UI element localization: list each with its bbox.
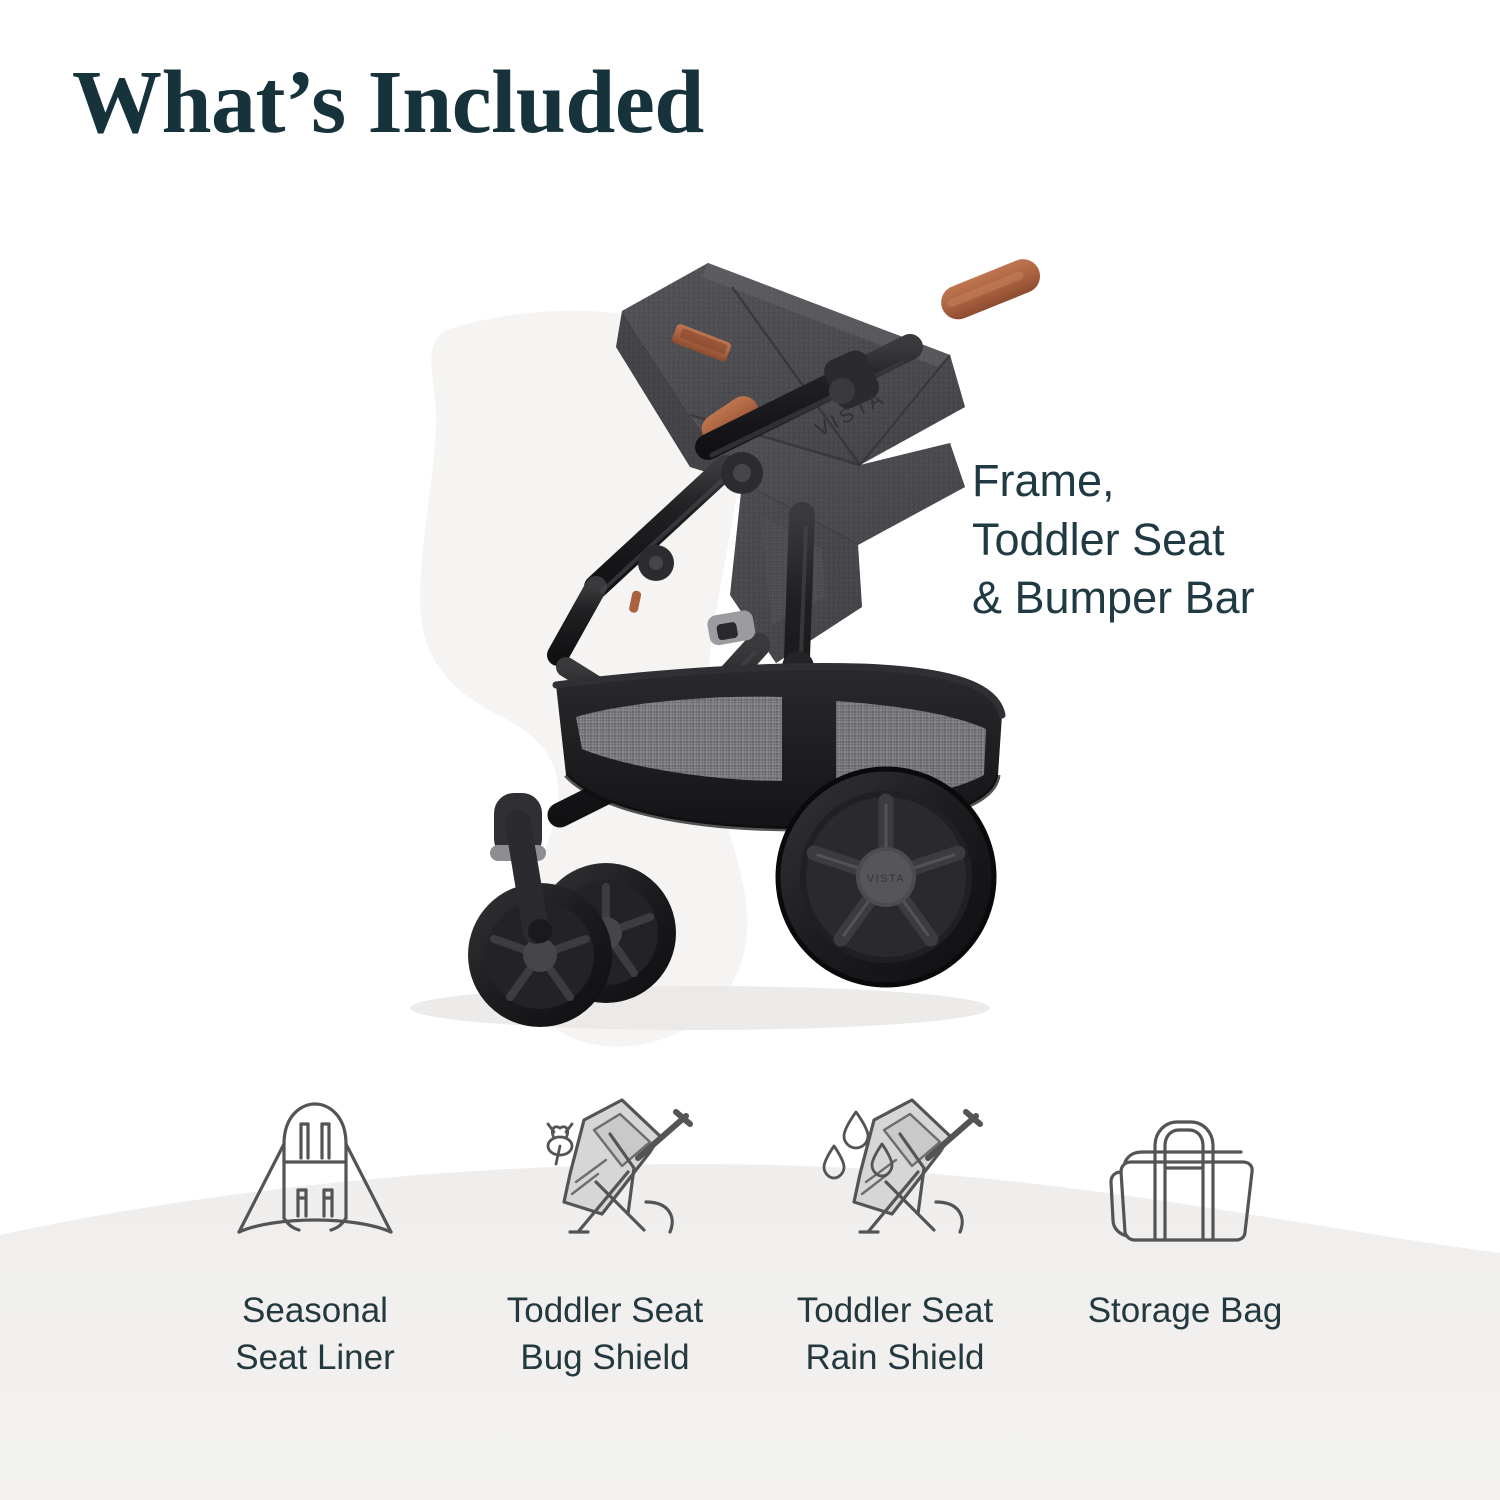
- item-label-line-1: Storage Bag: [1088, 1288, 1283, 1335]
- item-label-line-2: Seat Liner: [235, 1335, 395, 1382]
- item-label: Toddler Seat Rain Shield: [797, 1288, 994, 1381]
- item-label-line-2: Rain Shield: [797, 1335, 994, 1382]
- infographic-canvas: What’s Included: [0, 0, 1500, 1500]
- hero-caption-line-2: Toddler Seat: [972, 511, 1255, 570]
- hero-caption-line-1: Frame,: [972, 452, 1255, 511]
- hero-caption-line-3: & Bumper Bar: [972, 569, 1255, 628]
- item-label: Toddler Seat Bug Shield: [507, 1288, 704, 1381]
- rear-wheel: VISTA: [778, 769, 994, 985]
- item-seasonal-seat-liner: Seasonal Seat Liner: [170, 1090, 460, 1381]
- item-label-line-1: Seasonal: [235, 1288, 395, 1335]
- seat-liner-icon: [227, 1090, 403, 1250]
- stroller-illustration: VISTA: [390, 215, 1070, 1045]
- stroller-svg: VISTA: [390, 215, 1070, 1045]
- rain-shield-icon: [800, 1090, 990, 1250]
- item-storage-bag: Storage Bag: [1040, 1090, 1330, 1335]
- storage-bag-icon: [1095, 1090, 1275, 1250]
- item-label-line-1: Toddler Seat: [797, 1288, 994, 1335]
- included-items-row: Seasonal Seat Liner: [0, 1090, 1500, 1381]
- item-toddler-seat-bug-shield: Toddler Seat Bug Shield: [460, 1090, 750, 1381]
- item-label: Seasonal Seat Liner: [235, 1288, 395, 1381]
- page-title: What’s Included: [72, 58, 704, 148]
- hero-caption: Frame, Toddler Seat & Bumper Bar: [972, 452, 1255, 628]
- item-label-line-1: Toddler Seat: [507, 1288, 704, 1335]
- item-label-line-2: Bug Shield: [507, 1335, 704, 1382]
- front-wheel: [468, 793, 676, 1027]
- bug-shield-icon: [510, 1090, 700, 1250]
- item-label: Storage Bag: [1088, 1288, 1283, 1335]
- bee-glyph: [548, 1124, 572, 1164]
- wheel-hub-wordmark: VISTA: [867, 873, 905, 885]
- item-toddler-seat-rain-shield: Toddler Seat Rain Shield: [750, 1090, 1040, 1381]
